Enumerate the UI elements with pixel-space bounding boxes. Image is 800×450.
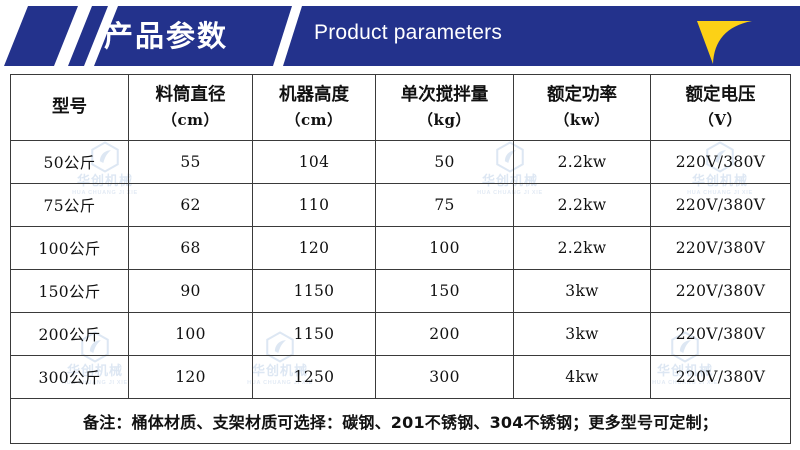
cell-rated-voltage: 220V/380V	[651, 227, 791, 270]
cell-barrel-diameter: 68	[129, 227, 253, 270]
table-footer-row: 备注：桶体材质、支架材质可选择：碳钢、201不锈钢、304不锈钢；更多型号可定制…	[11, 399, 791, 444]
specification-table-wrapper: 型号 料筒直径 （cm） 机器高度 （cm） 单次搅拌量 （kg）	[10, 74, 790, 444]
cell-machine-height: 1150	[253, 270, 376, 313]
column-header-unit: （kg）	[376, 108, 513, 133]
cell-machine-height: 110	[253, 184, 376, 227]
cell-rated-voltage: 220V/380V	[651, 184, 791, 227]
column-header-name: 机器高度	[279, 85, 349, 105]
column-header-name: 型号	[52, 97, 87, 117]
table-row: 300公斤 120 1250 300 4kw 220V/380V	[11, 356, 791, 399]
column-header-unit: （V）	[651, 108, 790, 133]
column-header-unit: （cm）	[253, 108, 375, 133]
cell-barrel-diameter: 100	[129, 313, 253, 356]
specification-table: 型号 料筒直径 （cm） 机器高度 （cm） 单次搅拌量 （kg）	[10, 74, 791, 444]
banner-title-en: Product parameters	[314, 21, 502, 45]
column-header-rated-voltage: 额定电压 （V）	[651, 75, 791, 141]
table-row: 100公斤 68 120 100 2.2kw 220V/380V	[11, 227, 791, 270]
table-row: 75公斤 62 110 75 2.2kw 220V/380V	[11, 184, 791, 227]
cell-machine-height: 104	[253, 141, 376, 184]
cell-model: 300公斤	[11, 356, 129, 399]
cell-rated-power: 3kw	[514, 313, 651, 356]
cell-rated-voltage: 220V/380V	[651, 356, 791, 399]
table-row: 150公斤 90 1150 150 3kw 220V/380V	[11, 270, 791, 313]
cell-rated-power: 2.2kw	[514, 184, 651, 227]
table-row: 50公斤 55 104 50 2.2kw 220V/380V	[11, 141, 791, 184]
table-row: 200公斤 100 1150 200 3kw 220V/380V	[11, 313, 791, 356]
cell-model: 150公斤	[11, 270, 129, 313]
cell-batch-capacity: 75	[376, 184, 514, 227]
cell-rated-voltage: 220V/380V	[651, 313, 791, 356]
cell-barrel-diameter: 62	[129, 184, 253, 227]
cell-batch-capacity: 200	[376, 313, 514, 356]
product-parameters-page: 华创机械 HUA CHUANG JI XIE 华创机械 HUA CHUANG J…	[0, 0, 800, 450]
cell-rated-power: 4kw	[514, 356, 651, 399]
column-header-name: 额定电压	[686, 85, 756, 105]
footer-note: 备注：桶体材质、支架材质可选择：碳钢、201不锈钢、304不锈钢；更多型号可定制…	[11, 399, 791, 444]
table-footer: 备注：桶体材质、支架材质可选择：碳钢、201不锈钢、304不锈钢；更多型号可定制…	[11, 399, 791, 444]
diagonal-stripe-icon	[4, 6, 78, 66]
banner-title-cn: 产品参数	[104, 13, 228, 55]
cell-batch-capacity: 150	[376, 270, 514, 313]
table-body: 50公斤 55 104 50 2.2kw 220V/380V 75公斤 62 1…	[11, 141, 791, 399]
column-header-rated-power: 额定功率 （kw）	[514, 75, 651, 141]
column-header-name: 单次搅拌量	[401, 85, 489, 105]
cell-machine-height: 120	[253, 227, 376, 270]
column-header-batch-capacity: 单次搅拌量 （kg）	[376, 75, 514, 141]
cell-barrel-diameter: 120	[129, 356, 253, 399]
cell-model: 100公斤	[11, 227, 129, 270]
table-header-row: 型号 料筒直径 （cm） 机器高度 （cm） 单次搅拌量 （kg）	[11, 75, 791, 141]
cell-machine-height: 1250	[253, 356, 376, 399]
column-header-name: 料筒直径	[156, 85, 226, 105]
column-header-barrel-diameter: 料筒直径 （cm）	[129, 75, 253, 141]
cell-batch-capacity: 300	[376, 356, 514, 399]
cell-rated-power: 3kw	[514, 270, 651, 313]
cell-rated-power: 2.2kw	[514, 227, 651, 270]
page-header-banner: 产品参数 Product parameters	[0, 0, 800, 72]
column-header-machine-height: 机器高度 （cm）	[253, 75, 376, 141]
cell-machine-height: 1150	[253, 313, 376, 356]
cell-batch-capacity: 100	[376, 227, 514, 270]
cell-model: 200公斤	[11, 313, 129, 356]
column-header-model: 型号	[11, 75, 129, 141]
cell-barrel-diameter: 55	[129, 141, 253, 184]
column-header-unit: （cm）	[129, 108, 252, 133]
cell-model: 75公斤	[11, 184, 129, 227]
cell-rated-voltage: 220V/380V	[651, 270, 791, 313]
cell-rated-voltage: 220V/380V	[651, 141, 791, 184]
table-header: 型号 料筒直径 （cm） 机器高度 （cm） 单次搅拌量 （kg）	[11, 75, 791, 141]
cell-batch-capacity: 50	[376, 141, 514, 184]
column-header-name: 额定功率	[547, 85, 617, 105]
column-header-unit: （kw）	[514, 108, 650, 133]
cell-rated-power: 2.2kw	[514, 141, 651, 184]
cell-model: 50公斤	[11, 141, 129, 184]
cell-barrel-diameter: 90	[129, 270, 253, 313]
